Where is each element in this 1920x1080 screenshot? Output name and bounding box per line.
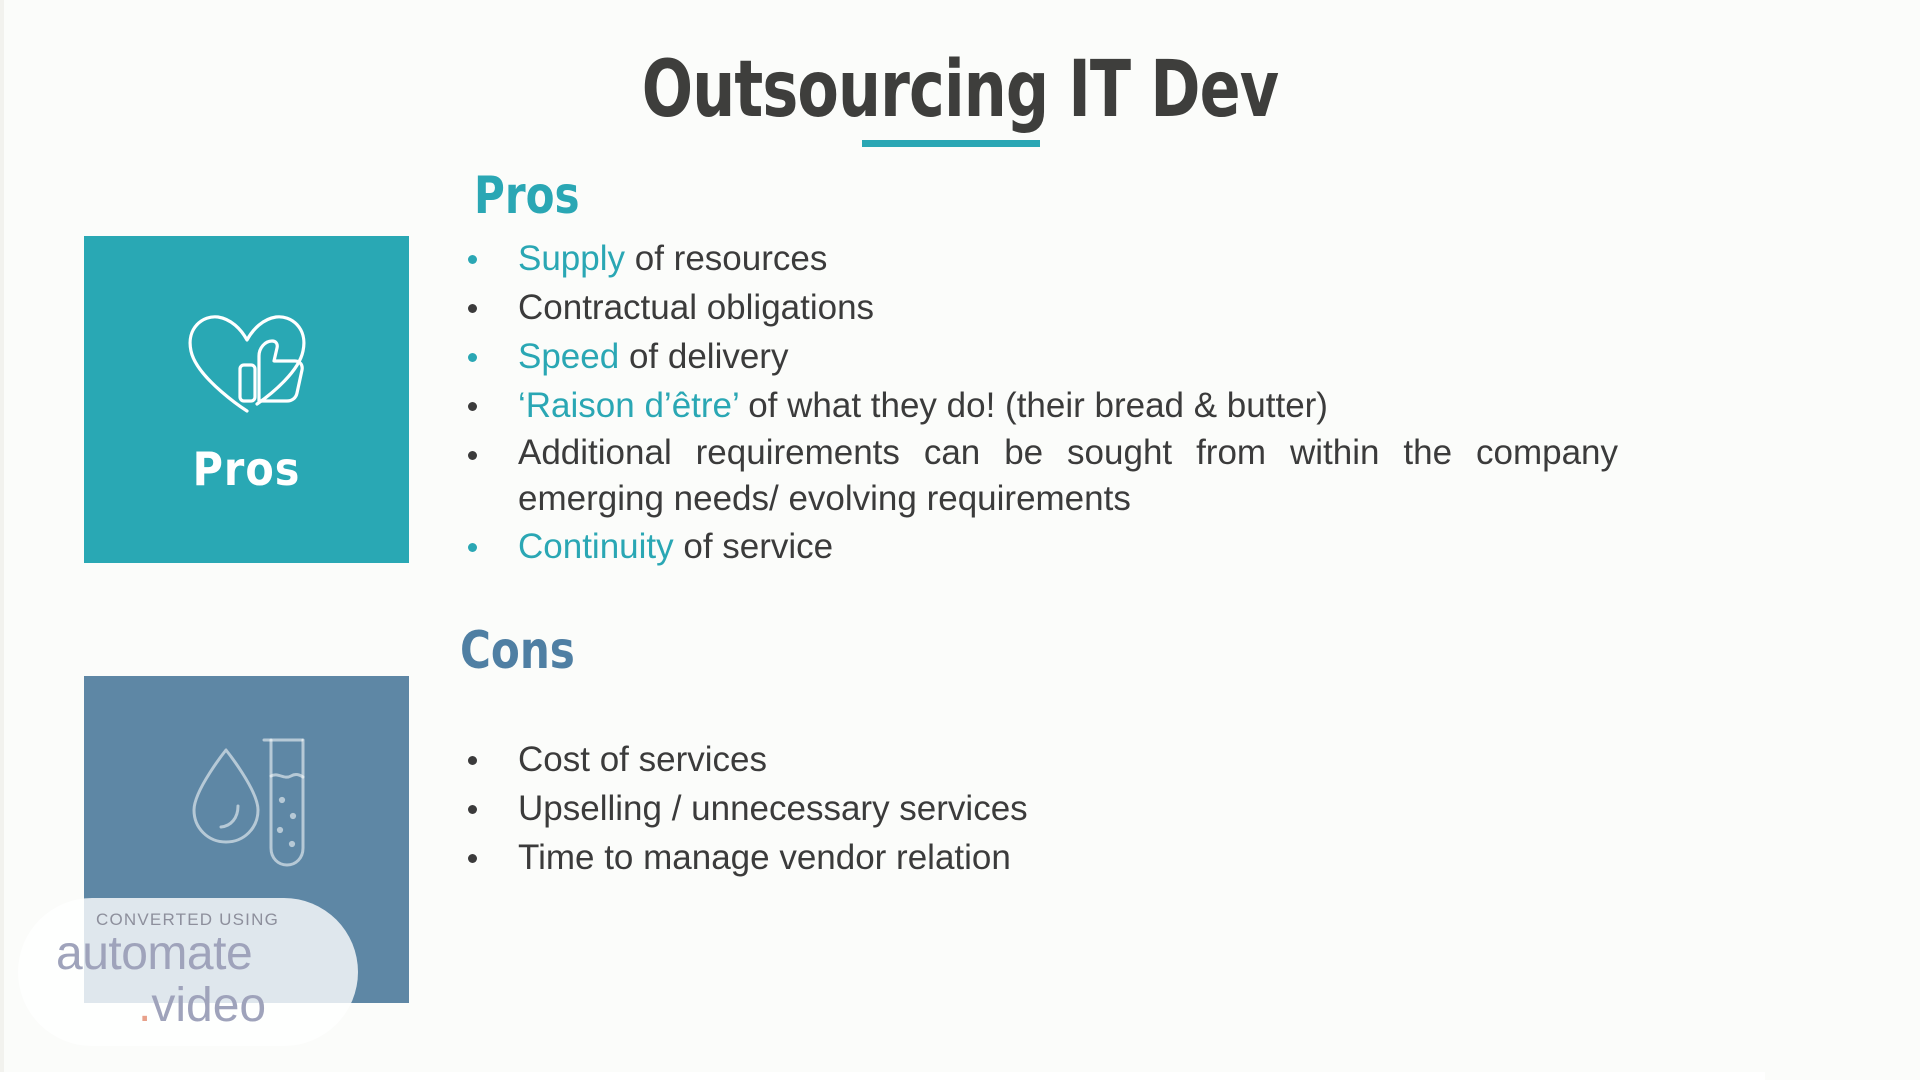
bullet-text: of delivery — [619, 337, 788, 376]
bullet-text: obligations — [697, 288, 874, 327]
bullet-dot-icon — [468, 353, 477, 362]
list-item: ‘Raison d’être’ of what they do! (their … — [460, 381, 1760, 430]
bullet-text-line-2: emerging needs/ evolving requirements — [518, 476, 1768, 522]
bullet-dot-icon — [468, 451, 477, 460]
pros-bullet-list: Supply of resources Contractual obligati… — [460, 234, 1760, 571]
title-block: Outsourcing IT Dev — [0, 48, 1920, 132]
bullet-dot-icon — [468, 805, 477, 814]
watermark-suffix-text: video — [151, 979, 266, 1032]
frame-edge-left — [0, 0, 4, 1080]
droplet-test-tube-icon — [172, 728, 322, 883]
right-frame-clip-cons — [1080, 740, 1920, 940]
bullet-keyword: Contractual — [518, 288, 697, 327]
watermark-suffix: .video — [138, 978, 266, 1033]
bullet-dot-icon — [468, 756, 477, 765]
list-item: Continuity of service — [460, 522, 1760, 571]
automate-video-watermark: CONVERTED USING automate .video — [18, 898, 358, 1046]
list-item: Supply of resources — [460, 234, 1760, 283]
bullet-keyword: ‘Raison d’être’ — [518, 386, 738, 425]
bullet-dot-icon — [468, 255, 477, 264]
bullet-text: Time to manage vendor relation — [518, 838, 1011, 877]
list-item: Additional requirements can be sought fr… — [460, 430, 1768, 522]
bullet-dot-icon — [468, 854, 477, 863]
bullet-keyword: Supply — [518, 239, 625, 278]
pros-section-heading: Pros — [474, 168, 1631, 224]
bullet-text: Upselling / unnecessary services — [518, 789, 1028, 828]
bullet-keyword: Continuity — [518, 527, 674, 566]
bullet-text: of what they do! (their bread & butter) — [738, 386, 1327, 425]
bullet-text-line-1: Additional requirements can be sought fr… — [518, 430, 1618, 476]
list-item: Contractual obligations — [460, 283, 1760, 332]
pros-tile-label: Pros — [193, 442, 301, 496]
cons-section-heading: Cons — [460, 623, 1630, 679]
title-underline-accent — [862, 140, 1040, 147]
bullet-dot-icon — [468, 543, 477, 552]
watermark-brand: automate — [56, 926, 252, 981]
bullet-dot-icon — [468, 304, 477, 313]
bullet-text: Cost of services — [518, 740, 767, 779]
frame-edge-bottom — [0, 1072, 1920, 1080]
slide-canvas: Outsourcing IT Dev Pros — [0, 0, 1920, 1080]
bullet-text: of resources — [625, 239, 827, 278]
bullet-dot-icon — [468, 402, 477, 411]
bullet-text: of service — [674, 527, 834, 566]
heart-thumbs-up-icon — [177, 303, 317, 428]
pros-icon-tile: Pros — [84, 236, 409, 563]
page-title: Outsourcing IT Dev — [642, 48, 1278, 132]
list-item: Speed of delivery — [460, 332, 1760, 381]
bullet-keyword: Speed — [518, 337, 619, 376]
watermark-dot: . — [138, 979, 151, 1032]
